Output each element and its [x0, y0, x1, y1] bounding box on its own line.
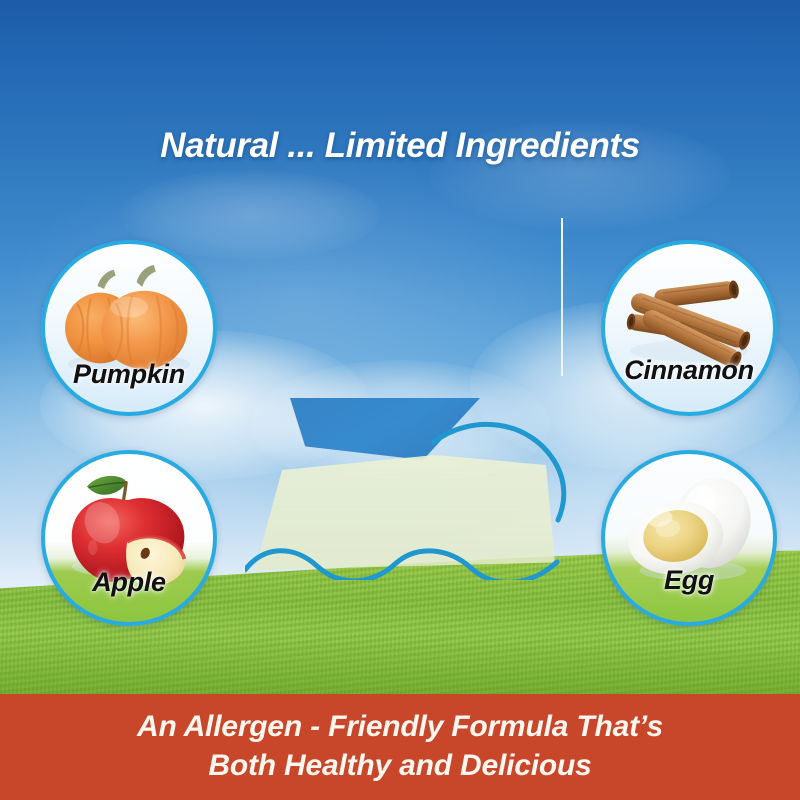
page-title: Natural ... Limited Ingredients [0, 126, 800, 166]
ingredient-label-apple: Apple [45, 567, 213, 598]
vertical-white-accent-line [561, 218, 563, 376]
package-wave-outline [245, 540, 565, 580]
banner-line-1: An Allergen - Friendly Formula That’s [0, 710, 800, 744]
ingredient-label-pumpkin: Pumpkin [45, 359, 213, 390]
package-arc-outline [430, 420, 570, 530]
bottom-banner: An Allergen - Friendly Formula That’s Bo… [0, 694, 800, 800]
ingredient-circle-pumpkin[interactable]: Pumpkin [41, 240, 217, 416]
ingredient-circle-apple[interactable]: Apple [41, 450, 217, 626]
banner-line-2: Both Healthy and Delicious [0, 749, 800, 783]
ingredient-circle-cinnamon[interactable]: Cinnamon [601, 240, 777, 416]
ingredient-circle-egg[interactable]: Egg [601, 450, 777, 626]
cinnamon-stick-icon [605, 244, 773, 412]
product-marketing-poster: Natural ... Limited Ingredients [0, 0, 800, 800]
egg-icon [605, 454, 773, 622]
ingredient-label-egg: Egg [605, 565, 773, 596]
ingredient-label-cinnamon: Cinnamon [605, 355, 773, 386]
